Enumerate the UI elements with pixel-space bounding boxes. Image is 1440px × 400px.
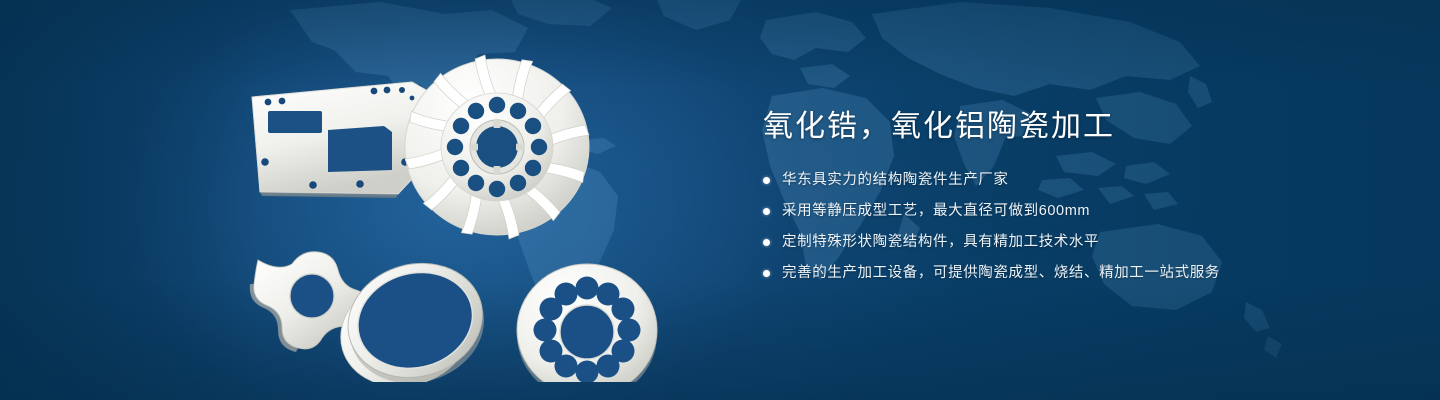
feature-text: 完善的生产加工设备，可提供陶瓷成型、烧结、精加工一站式服务 [782, 263, 1220, 284]
ceramic-plate-with-cutouts [252, 82, 428, 198]
ceramic-ring [328, 248, 498, 382]
feature-item: 定制特殊形状陶瓷结构件，具有精加工技术水平 [763, 232, 1363, 253]
banner-copy: 氧化锆，氧化铝陶瓷加工 华东具实力的结构陶瓷件生产厂家 采用等静压成型工艺，最大… [763, 108, 1363, 284]
feature-text: 定制特殊形状陶瓷结构件，具有精加工技术水平 [782, 232, 1099, 253]
feature-list: 华东具实力的结构陶瓷件生产厂家 采用等静压成型工艺，最大直径可做到600mm 定… [763, 170, 1363, 284]
feature-text: 华东具实力的结构陶瓷件生产厂家 [782, 170, 1009, 191]
feature-item: 采用等静压成型工艺，最大直径可做到600mm [763, 201, 1363, 222]
bullet-dot-icon [763, 239, 770, 246]
bullet-dot-icon [763, 177, 770, 184]
feature-item: 完善的生产加工设备，可提供陶瓷成型、烧结、精加工一站式服务 [763, 263, 1363, 284]
ceramic-perforated-disc [517, 264, 657, 382]
ceramic-products-image [232, 42, 702, 382]
feature-item: 华东具实力的结构陶瓷件生产厂家 [763, 170, 1363, 191]
banner-headline: 氧化锆，氧化铝陶瓷加工 [763, 108, 1363, 146]
feature-text: 采用等静压成型工艺，最大直径可做到600mm [782, 201, 1090, 222]
ceramic-impeller-disc [405, 55, 589, 239]
bullet-dot-icon [763, 208, 770, 215]
bullet-dot-icon [763, 270, 770, 277]
promo-banner: 氧化锆，氧化铝陶瓷加工 华东具实力的结构陶瓷件生产厂家 采用等静压成型工艺，最大… [0, 0, 1440, 400]
